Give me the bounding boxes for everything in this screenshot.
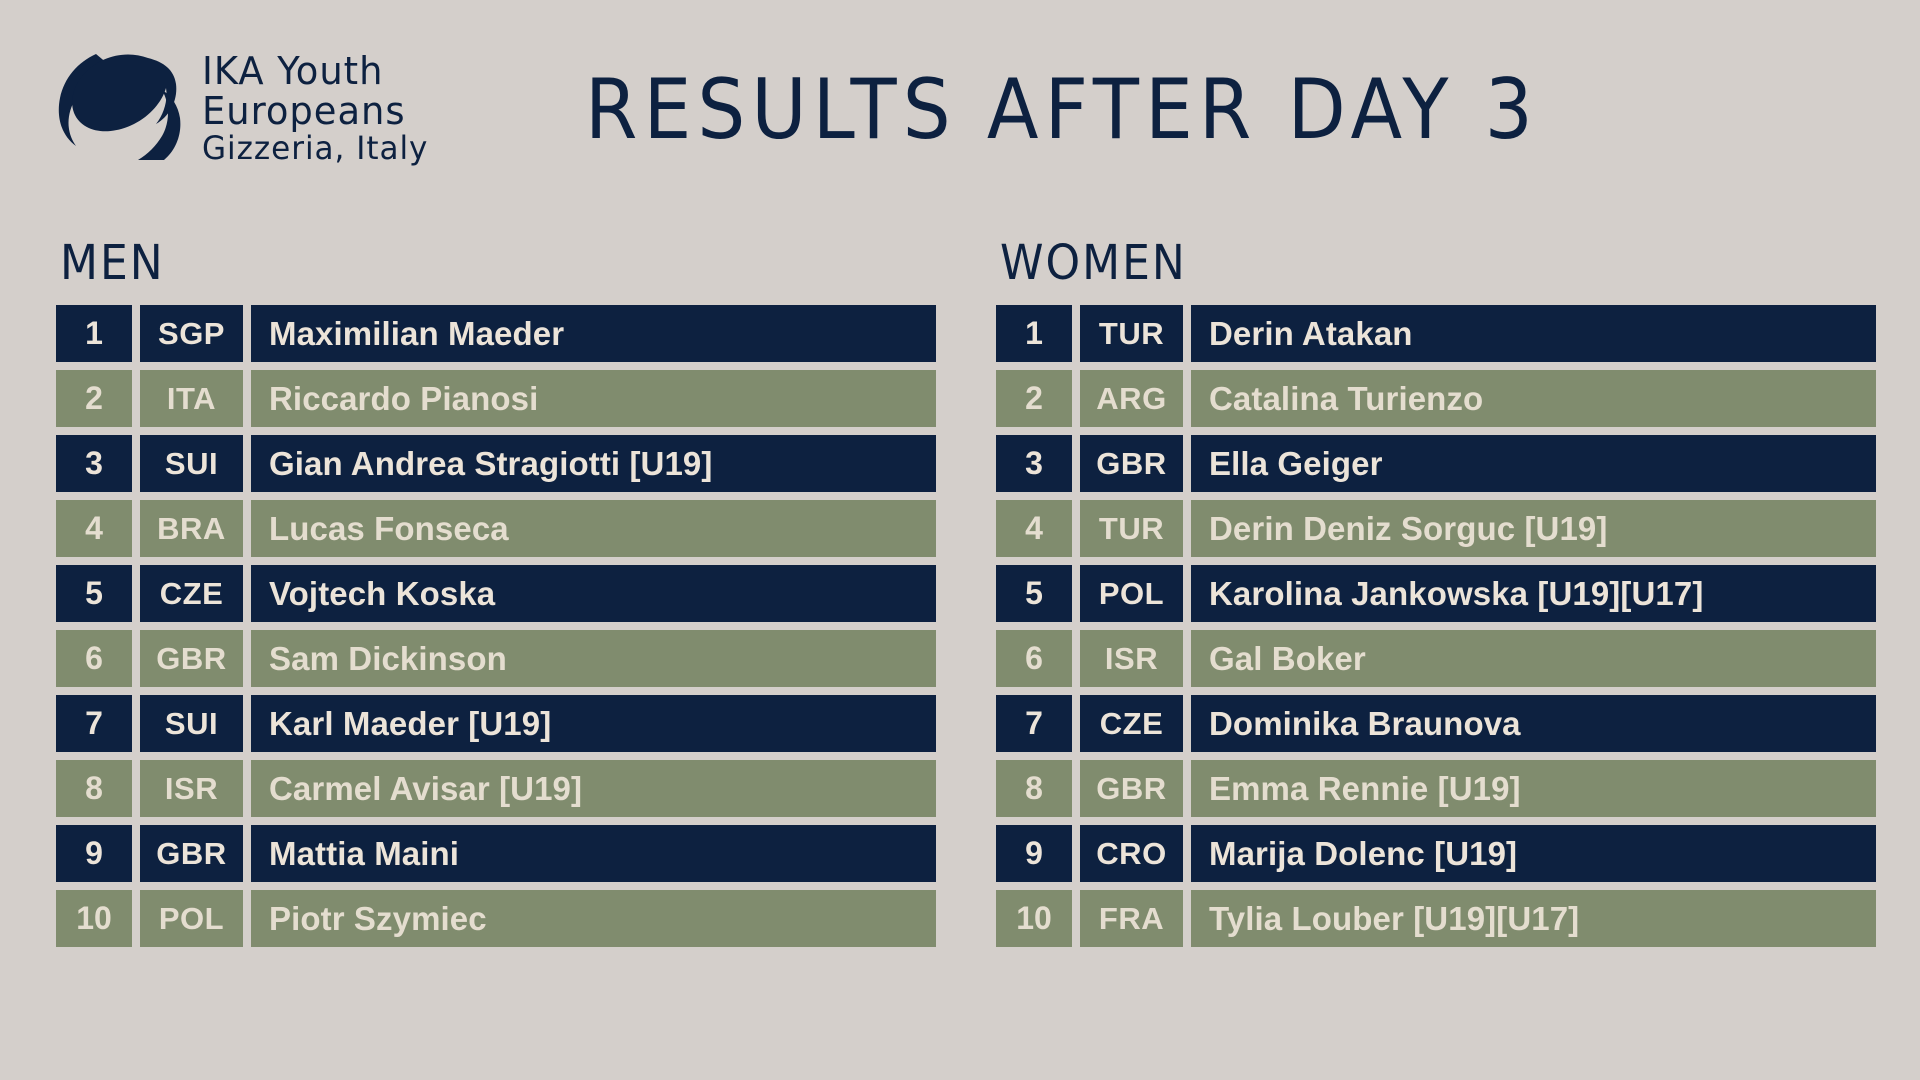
rank-cell: 4 (996, 500, 1072, 557)
athlete-name-cell: Lucas Fonseca (251, 500, 936, 557)
athlete-name-cell: Vojtech Koska (251, 565, 936, 622)
rank-cell: 1 (996, 305, 1072, 362)
country-cell: POL (140, 890, 243, 947)
men-results-column: MEN 1 SGP Maximilian Maeder 2 ITA Riccar… (56, 240, 936, 947)
country-cell: SUI (140, 695, 243, 752)
athlete-name-cell: Mattia Maini (251, 825, 936, 882)
table-row[interactable]: 2 ITA Riccardo Pianosi (56, 370, 936, 427)
logo-line-1: IKA Youth (202, 51, 428, 91)
table-row[interactable]: 4 BRA Lucas Fonseca (56, 500, 936, 557)
athlete-name-cell: Karolina Jankowska [U19][U17] (1191, 565, 1876, 622)
men-category-title: MEN (60, 235, 936, 291)
country-cell: TUR (1080, 500, 1183, 557)
rank-cell: 2 (56, 370, 132, 427)
table-row[interactable]: 3 GBR Ella Geiger (996, 435, 1876, 492)
rank-cell: 10 (56, 890, 132, 947)
table-row[interactable]: 8 ISR Carmel Avisar [U19] (56, 760, 936, 817)
athlete-name-cell: Dominika Braunova (1191, 695, 1876, 752)
table-row[interactable]: 8 GBR Emma Rennie [U19] (996, 760, 1876, 817)
table-row[interactable]: 7 CZE Dominika Braunova (996, 695, 1876, 752)
results-board: MEN 1 SGP Maximilian Maeder 2 ITA Riccar… (0, 240, 1920, 947)
rank-cell: 6 (996, 630, 1072, 687)
athlete-name-cell: Catalina Turienzo (1191, 370, 1876, 427)
page-title: RESULTS AFTER DAY 3 (585, 62, 1539, 158)
rank-cell: 5 (996, 565, 1072, 622)
rank-cell: 3 (56, 435, 132, 492)
rank-cell: 3 (996, 435, 1072, 492)
logo-line-2: Europeans (202, 91, 428, 131)
table-row[interactable]: 6 ISR Gal Boker (996, 630, 1876, 687)
rank-cell: 4 (56, 500, 132, 557)
rank-cell: 8 (996, 760, 1072, 817)
athlete-name-cell: Derin Deniz Sorguc [U19] (1191, 500, 1876, 557)
athlete-name-cell: Gian Andrea Stragiotti [U19] (251, 435, 936, 492)
country-cell: SUI (140, 435, 243, 492)
rank-cell: 7 (56, 695, 132, 752)
country-cell: GBR (140, 630, 243, 687)
country-cell: GBR (1080, 435, 1183, 492)
country-cell: GBR (140, 825, 243, 882)
ika-s-swoosh-logo-icon (52, 48, 188, 168)
athlete-name-cell: Karl Maeder [U19] (251, 695, 936, 752)
country-cell: POL (1080, 565, 1183, 622)
rank-cell: 7 (996, 695, 1072, 752)
rank-cell: 2 (996, 370, 1072, 427)
athlete-name-cell: Carmel Avisar [U19] (251, 760, 936, 817)
rank-cell: 6 (56, 630, 132, 687)
table-row[interactable]: 5 CZE Vojtech Koska (56, 565, 936, 622)
table-row[interactable]: 3 SUI Gian Andrea Stragiotti [U19] (56, 435, 936, 492)
country-cell: BRA (140, 500, 243, 557)
table-row[interactable]: 1 TUR Derin Atakan (996, 305, 1876, 362)
rank-cell: 9 (56, 825, 132, 882)
table-row[interactable]: 10 FRA Tylia Louber [U19][U17] (996, 890, 1876, 947)
table-row[interactable]: 6 GBR Sam Dickinson (56, 630, 936, 687)
country-cell: CZE (140, 565, 243, 622)
athlete-name-cell: Tylia Louber [U19][U17] (1191, 890, 1876, 947)
women-category-title: WOMEN (1000, 235, 1876, 291)
athlete-name-cell: Maximilian Maeder (251, 305, 936, 362)
table-row[interactable]: 9 CRO Marija Dolenc [U19] (996, 825, 1876, 882)
athlete-name-cell: Marija Dolenc [U19] (1191, 825, 1876, 882)
country-cell: SGP (140, 305, 243, 362)
table-row[interactable]: 7 SUI Karl Maeder [U19] (56, 695, 936, 752)
rank-cell: 5 (56, 565, 132, 622)
country-cell: ITA (140, 370, 243, 427)
table-row[interactable]: 4 TUR Derin Deniz Sorguc [U19] (996, 500, 1876, 557)
table-row[interactable]: 5 POL Karolina Jankowska [U19][U17] (996, 565, 1876, 622)
country-cell: CRO (1080, 825, 1183, 882)
event-logo: IKA Youth Europeans Gizzeria, Italy (52, 48, 435, 168)
logo-line-3: Gizzeria, Italy (202, 131, 428, 165)
country-cell: CZE (1080, 695, 1183, 752)
athlete-name-cell: Riccardo Pianosi (251, 370, 936, 427)
country-cell: FRA (1080, 890, 1183, 947)
rank-cell: 8 (56, 760, 132, 817)
athlete-name-cell: Emma Rennie [U19] (1191, 760, 1876, 817)
table-row[interactable]: 2 ARG Catalina Turienzo (996, 370, 1876, 427)
rank-cell: 10 (996, 890, 1072, 947)
country-cell: GBR (1080, 760, 1183, 817)
women-results-table: 1 TUR Derin Atakan 2 ARG Catalina Turien… (996, 305, 1876, 947)
table-row[interactable]: 9 GBR Mattia Maini (56, 825, 936, 882)
athlete-name-cell: Gal Boker (1191, 630, 1876, 687)
country-cell: TUR (1080, 305, 1183, 362)
page-header: IKA Youth Europeans Gizzeria, Italy RESU… (0, 0, 1920, 210)
athlete-name-cell: Derin Atakan (1191, 305, 1876, 362)
athlete-name-cell: Piotr Szymiec (251, 890, 936, 947)
country-cell: ISR (140, 760, 243, 817)
athlete-name-cell: Sam Dickinson (251, 630, 936, 687)
country-cell: ISR (1080, 630, 1183, 687)
athlete-name-cell: Ella Geiger (1191, 435, 1876, 492)
men-results-table: 1 SGP Maximilian Maeder 2 ITA Riccardo P… (56, 305, 936, 947)
rank-cell: 9 (996, 825, 1072, 882)
women-results-column: WOMEN 1 TUR Derin Atakan 2 ARG Catalina … (996, 240, 1876, 947)
rank-cell: 1 (56, 305, 132, 362)
table-row[interactable]: 10 POL Piotr Szymiec (56, 890, 936, 947)
country-cell: ARG (1080, 370, 1183, 427)
table-row[interactable]: 1 SGP Maximilian Maeder (56, 305, 936, 362)
